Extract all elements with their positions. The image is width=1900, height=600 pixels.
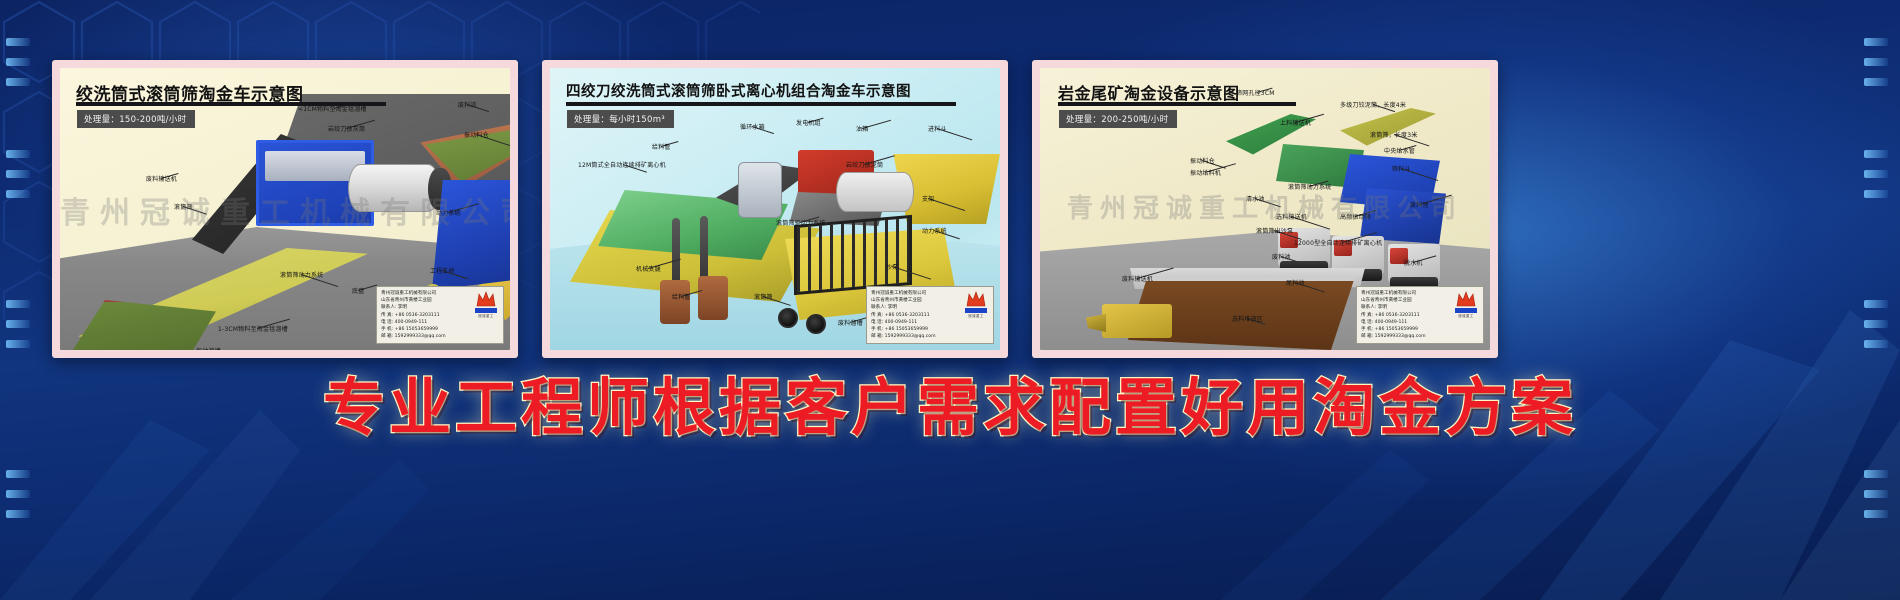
panel-3-canvas: 青州冠诚重工机械有限公司 岩金尾矿淘金设备示意图 处理量：200-250吨/小时… <box>1040 68 1490 350</box>
callout-label: 高频振动筛 <box>1340 212 1371 221</box>
panel-2-canvas: 四绞刀绞洗筒式滚筒筛卧式离心机组合淘金车示意图 处理量：每小时150m³ 发电机… <box>550 68 1000 350</box>
callout-label: 油箱 <box>856 124 868 133</box>
callout-label: 筛料斗 <box>1392 164 1411 173</box>
contact-hotline-value: 400-0949-111 <box>1375 320 1408 325</box>
diagram-panel-1[interactable]: 青州冠诚重工机械有限公司 绞洗筒式滚筒筛淘金车示意图 处理量：150-200吨/… <box>52 60 518 358</box>
callout-label: 动力系统 <box>436 208 461 217</box>
contact-fax-label: 传 真: <box>381 313 393 318</box>
contact-mobile-value: +86 15053659999 <box>1375 327 1418 332</box>
contact-email-value: 1592999333@qq.com <box>395 334 446 339</box>
trommel-drum-shape <box>348 164 440 212</box>
company-logo: 冠诚重工 <box>963 290 989 320</box>
callout-label: 发电机组 <box>796 118 821 127</box>
contact-person: 联系人: 李明 <box>1361 304 1450 311</box>
banner-headline: 专业工程师根据客户需求配置好用淘金方案 <box>0 372 1900 443</box>
contact-hotline-label: 电 话: <box>871 320 883 325</box>
callout-label: 工程车桥 <box>430 266 455 275</box>
contact-lines: 青州冠诚重工机械有限公司 山东省青州市黄楼工业园 联系人: 李明 传 真: +8… <box>381 290 470 340</box>
contact-email-label: 邮 箱: <box>871 334 883 339</box>
callout-label: 支架 <box>922 194 934 203</box>
crown-icon <box>966 291 986 307</box>
callout-label: 滚筒筛 <box>174 202 193 211</box>
contact-email-label: 邮 箱: <box>1361 334 1373 339</box>
callout-label: 振动溜槽 <box>196 346 221 350</box>
crown-icon <box>1456 291 1476 307</box>
logo-bar <box>1455 308 1477 313</box>
barrel-shape <box>660 280 690 324</box>
callout-label: 中央给水管 <box>1384 146 1415 155</box>
contact-person: 联系人: 李明 <box>381 304 470 311</box>
panel-2-title: 四绞刀绞洗筒式滚筒筛卧式离心机组合淘金车示意图 <box>566 80 911 101</box>
contact-fax-label: 传 真: <box>871 313 883 318</box>
callout-label: 底盘 <box>352 286 364 295</box>
wheel-loader-shape <box>1102 304 1172 338</box>
callout-label: 1-3CM物料至淘金毯溜槽 <box>218 324 288 333</box>
contact-lines: 青州冠诚重工机械有限公司 山东省青州市黄楼工业园 联系人: 李明 传 真: +8… <box>1361 290 1450 340</box>
panel-2-title-rule <box>566 102 956 106</box>
barrel-shape <box>698 276 728 320</box>
callout-label: 选料堆放区 <box>1232 314 1263 323</box>
callout-label: 振动给料机 <box>1190 168 1221 177</box>
callout-label: 滚筒筛，长度3米 <box>1370 130 1417 139</box>
callout-label: 岩绞刀放泥筒 <box>846 160 883 169</box>
panel-1-capacity-badge: 处理量：150-200吨/小时 <box>77 110 195 128</box>
contact-mobile-label: 手 机: <box>871 327 883 332</box>
callout-label: 循环水箱 <box>740 122 765 131</box>
logo-subtext: 冠诚重工 <box>478 314 494 319</box>
contact-company: 青州冠诚重工机械有限公司 <box>871 290 960 297</box>
contact-mobile-label: 手 机: <box>1361 327 1373 332</box>
contact-person: 联系人: 李明 <box>871 304 960 311</box>
panel-3-title: 岩金尾矿淘金设备示意图 <box>1058 80 1240 104</box>
panel-3-contact-card: 青州冠诚重工机械有限公司 山东省青州市黄楼工业园 联系人: 李明 传 真: +8… <box>1356 286 1484 344</box>
diagram-panels-row: 青州冠诚重工机械有限公司 绞洗筒式滚筒筛淘金车示意图 处理量：150-200吨/… <box>0 60 1900 360</box>
callout-label: 脱水机 <box>1404 258 1423 267</box>
callout-label: 机械支腿 <box>636 264 661 273</box>
callout-label: 多级刀铰泥筒，长度4米 <box>1340 100 1406 109</box>
water-tank-shape <box>738 162 782 218</box>
panel-1-title-rule <box>76 102 386 106</box>
contact-lines: 青州冠诚重工机械有限公司 山东省青州市黄楼工业园 联系人: 李明 传 真: +8… <box>871 290 960 340</box>
contact-fax-value: +86 0536-3203111 <box>1375 313 1420 318</box>
panel-3-capacity-badge: 处理量：200-250吨/小时 <box>1059 110 1177 128</box>
contact-fax-label: 传 真: <box>1361 313 1373 318</box>
callout-label: 废料溜槽 <box>838 318 863 327</box>
contact-email-label: 邮 箱: <box>381 334 393 339</box>
panel-1-canvas: 青州冠诚重工机械有限公司 绞洗筒式滚筒筛淘金车示意图 处理量：150-200吨/… <box>60 68 510 350</box>
callout-label: 动力系统 <box>922 226 947 235</box>
contact-fax-value: +86 0536-3203111 <box>885 313 930 318</box>
logo-subtext: 冠诚重工 <box>1458 314 1474 319</box>
callout-label: 废料池 <box>1410 200 1429 209</box>
company-logo: 冠诚重工 <box>473 290 499 320</box>
callout-label: 滚筒筛驱动力系统 <box>776 218 826 227</box>
contact-hotline-value: 400-0949-111 <box>395 320 428 325</box>
panel-2-contact-card: 青州冠诚重工机械有限公司 山东省青州市黄楼工业园 联系人: 李明 传 真: +8… <box>866 286 994 344</box>
callout-label: 12M筒式全自动连续排矿离心机 <box>578 160 666 169</box>
crown-icon <box>476 291 496 307</box>
callout-label: 废料输送机 <box>146 174 177 183</box>
callout-label: 废料输送机 <box>1122 274 1153 283</box>
callout-label: 筛网孔径3CM <box>1236 88 1275 97</box>
contact-mobile-value: +86 15053659999 <box>395 327 438 332</box>
contact-mobile-label: 手 机: <box>381 327 393 332</box>
callout-label: 给料管 <box>672 292 691 301</box>
contact-address: 山东省青州市黄楼工业园 <box>1361 297 1450 304</box>
wheel-shape <box>806 314 826 334</box>
panel-2-capacity-badge: 处理量：每小时150m³ <box>567 110 674 128</box>
callout-label: 尾料池 <box>1286 278 1305 287</box>
callout-label: 岩绞刀放灰筒 <box>328 124 365 133</box>
contact-hotline-value: 400-0949-111 <box>885 320 918 325</box>
callout-label: 12000型全自动连续排矿离心机 <box>1294 238 1382 247</box>
callout-label: 清水池 <box>1246 194 1265 203</box>
diagram-panel-3[interactable]: 青州冠诚重工机械有限公司 岩金尾矿淘金设备示意图 处理量：200-250吨/小时… <box>1032 60 1498 358</box>
callout-label: 滚筒筛出沙泵 <box>1256 226 1293 235</box>
contact-mobile-value: +86 15053659999 <box>885 327 928 332</box>
contact-fax-value: +86 0536-3203111 <box>395 313 440 318</box>
logo-bar <box>475 308 497 313</box>
callout-label: 滚筒筛动力系统 <box>280 270 323 279</box>
callout-label: 振动料仓 <box>464 130 489 139</box>
company-logo: 冠诚重工 <box>1453 290 1479 320</box>
contact-email-value: 1592999333@qq.com <box>885 334 936 339</box>
callout-label: 上料输送机 <box>1280 118 1311 127</box>
callout-label: 废料池 <box>1272 252 1291 261</box>
callout-label: 滚筒筛动力系统 <box>1288 182 1331 191</box>
diagram-panel-2[interactable]: 四绞刀绞洗筒式滚筒筛卧式离心机组合淘金车示意图 处理量：每小时150m³ 发电机… <box>542 60 1008 358</box>
callout-label: 振动料仓 <box>1190 156 1215 165</box>
contact-address: 山东省青州市黄楼工业园 <box>381 297 470 304</box>
callout-label: 废料流 <box>458 100 477 109</box>
contact-hotline-label: 电 话: <box>381 320 393 325</box>
panel-3-title-rule <box>1058 102 1296 106</box>
callout-label: 给料管 <box>652 142 671 151</box>
contact-company: 青州冠诚重工机械有限公司 <box>1361 290 1450 297</box>
contact-company: 青州冠诚重工机械有限公司 <box>381 290 470 297</box>
logo-bar <box>965 308 987 313</box>
panel-1-contact-card: 青州冠诚重工机械有限公司 山东省青州市黄楼工业园 联系人: 李明 传 真: +8… <box>376 286 504 344</box>
wheel-shape <box>778 308 798 328</box>
callout-label: 沙泵 <box>886 262 898 271</box>
contact-hotline-label: 电 话: <box>1361 320 1373 325</box>
callout-label: 滚筒筛 <box>754 292 773 301</box>
trommel-drum-shape <box>836 172 914 212</box>
contact-email-value: 1592999333@qq.com <box>1375 334 1426 339</box>
logo-subtext: 冠诚重工 <box>968 314 984 319</box>
callout-label: 选料输送机 <box>1276 212 1307 221</box>
contact-address: 山东省青州市黄楼工业园 <box>871 297 960 304</box>
callout-label: 进料斗 <box>928 124 947 133</box>
